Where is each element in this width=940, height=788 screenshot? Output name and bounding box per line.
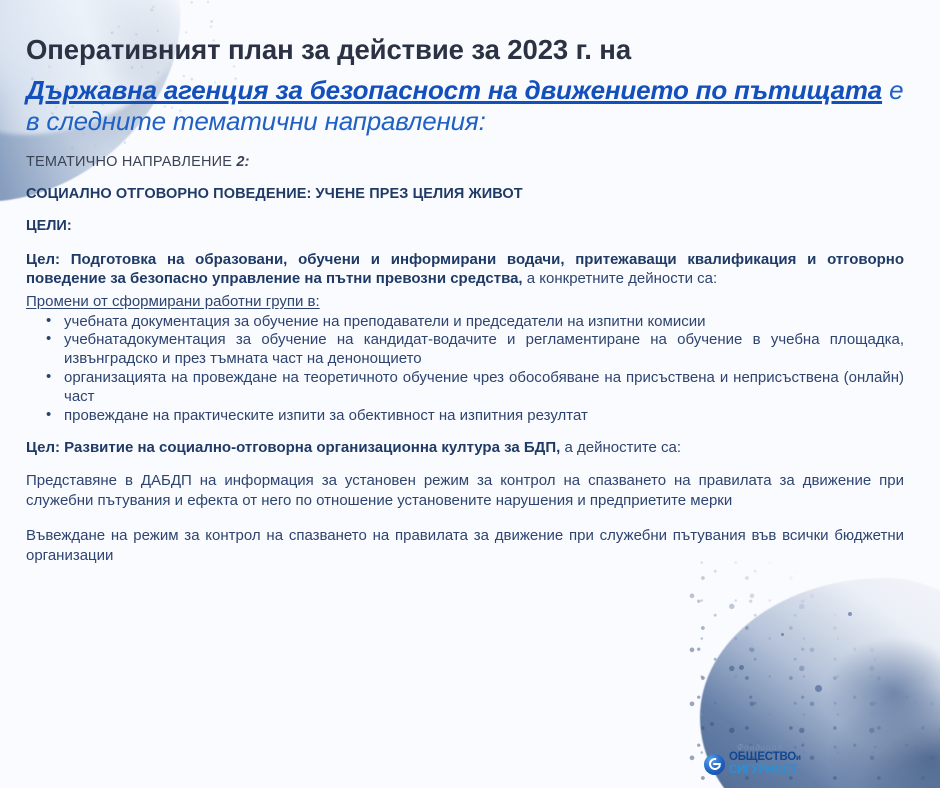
watercolor-bottomright-wash <box>780 608 940 778</box>
presentation-slide: Оперативният план за действие за 2023 г.… <box>0 0 940 788</box>
foundation-logo: Фондация ОБЩЕСТВОи СИГУРНОСТ <box>704 752 801 776</box>
logo-swirl-icon <box>704 754 725 775</box>
goal-1-paragraph: Цел: Подготовка на образовани, обучени и… <box>26 250 904 289</box>
goal-1-rest: а конкретните дейности са: <box>523 270 718 287</box>
bullets-lead: Промени от сформирани работни групи в: <box>26 293 904 312</box>
watercolor-droplet <box>739 665 744 670</box>
watercolor-droplet <box>781 633 784 636</box>
watercolor-droplet <box>848 612 852 616</box>
activities-bullet-list: учебната документация за обучение на пре… <box>26 313 904 426</box>
activity-paragraph-1: Представяне в ДАБДП на информация за уст… <box>26 471 904 510</box>
list-item: провеждане на практическите изпити за об… <box>46 407 904 426</box>
goal-1-bold: Цел: Подготовка на образовани, обучени и… <box>26 251 904 288</box>
list-item: учебната документация за обучение на пре… <box>46 313 904 332</box>
kicker-label: ТЕМАТИЧНО НАПРАВЛЕНИЕ <box>26 154 236 170</box>
goal-2-bold: Цел: Развитие на социално-отговорна орга… <box>26 439 560 456</box>
kicker-number: 2: <box>236 154 249 170</box>
goal-2-rest: а дейностите са: <box>560 439 681 456</box>
logo-line-1-suffix: и <box>796 753 801 762</box>
watercolor-droplet <box>815 685 822 692</box>
slide-content: Оперативният план за действие за 2023 г.… <box>0 0 940 565</box>
slide-subtitle: Държавна агенция за безопасност на движе… <box>26 75 904 136</box>
goal-2-paragraph: Цел: Развитие на социално-отговорна орга… <box>26 438 904 458</box>
agency-name-link[interactable]: Държавна агенция за безопасност на движе… <box>26 75 882 105</box>
slide-title: Оперативният план за действие за 2023 г.… <box>26 34 904 66</box>
watercolor-droplet <box>710 722 714 726</box>
list-item: организацията на провеждане на теоретичн… <box>46 369 904 407</box>
logo-text: Фондация ОБЩЕСТВОи СИГУРНОСТ <box>729 752 801 776</box>
activity-paragraph-2: Въвеждане на режим за контрол на спазван… <box>26 526 904 565</box>
logo-script-word: Фондация <box>737 744 783 752</box>
section-heading: СОЦИАЛНО ОТГОВОРНО ПОВЕДЕНИЕ: УЧЕНЕ ПРЕЗ… <box>26 186 904 202</box>
list-item: учебнатадокументация за обучение на канд… <box>46 331 904 369</box>
logo-line-1-main: ОБЩЕСТВО <box>729 751 796 763</box>
goals-label: ЦЕЛИ: <box>26 218 904 234</box>
thematic-direction-kicker: ТЕМАТИЧНО НАПРАВЛЕНИЕ 2: <box>26 154 904 170</box>
logo-line-2: СИГУРНОСТ <box>729 765 801 777</box>
logo-line-1: ОБЩЕСТВОи <box>729 752 801 764</box>
